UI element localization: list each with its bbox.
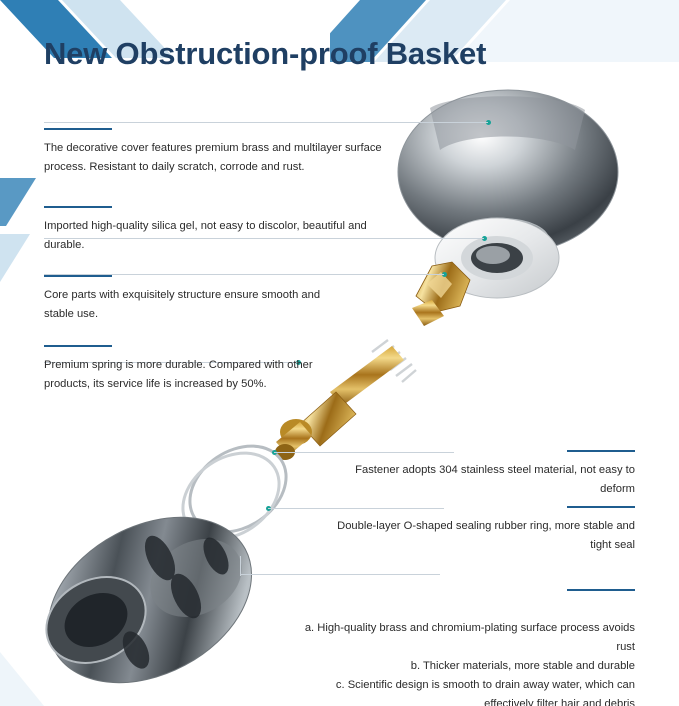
callout-rule xyxy=(567,506,635,508)
chevron-decoration-bottom-left xyxy=(0,600,80,706)
callout-rule xyxy=(44,275,112,277)
callout-decorative-cover: The decorative cover features premium br… xyxy=(44,128,394,177)
callout-basket-benefits: a. High-quality brass and chromium-plati… xyxy=(295,570,635,706)
leader-line-basket-vertical xyxy=(240,556,241,576)
spring-ring-art xyxy=(167,428,303,556)
spring-upper-art xyxy=(372,340,416,382)
basket-body-art xyxy=(20,484,280,706)
callout-rule xyxy=(567,589,635,591)
callout-premium-spring: Premium spring is more durable. Compared… xyxy=(44,345,314,394)
callout-rule xyxy=(44,345,112,347)
leader-line-cover xyxy=(44,122,488,123)
callout-text: Premium spring is more durable. Compared… xyxy=(44,356,314,394)
product-infographic: New Obstruction-proof Basket xyxy=(0,0,679,706)
callout-text: Core parts with exquisitely structure en… xyxy=(44,286,344,324)
callout-sealing-ring: Double-layer O-shaped sealing rubber rin… xyxy=(335,506,635,555)
callout-fastener: Fastener adopts 304 stainless steel mate… xyxy=(335,450,635,499)
brass-core-head-art xyxy=(412,262,470,326)
callout-silica-gel: Imported high-quality silica gel, not ea… xyxy=(44,206,374,255)
page-title: New Obstruction-proof Basket xyxy=(44,36,486,72)
callout-core-parts: Core parts with exquisitely structure en… xyxy=(44,275,344,324)
callout-text: a. High-quality brass and chromium-plati… xyxy=(295,619,635,706)
callout-rule xyxy=(44,206,112,208)
callout-text: Imported high-quality silica gel, not ea… xyxy=(44,217,374,255)
callout-text: Fastener adopts 304 stainless steel mate… xyxy=(335,461,635,499)
silica-gel-ring-art xyxy=(435,218,559,298)
callout-rule xyxy=(567,450,635,452)
callout-rule xyxy=(44,128,112,130)
callout-text: The decorative cover features premium br… xyxy=(44,139,394,177)
callout-text: Double-layer O-shaped sealing rubber rin… xyxy=(335,517,635,555)
